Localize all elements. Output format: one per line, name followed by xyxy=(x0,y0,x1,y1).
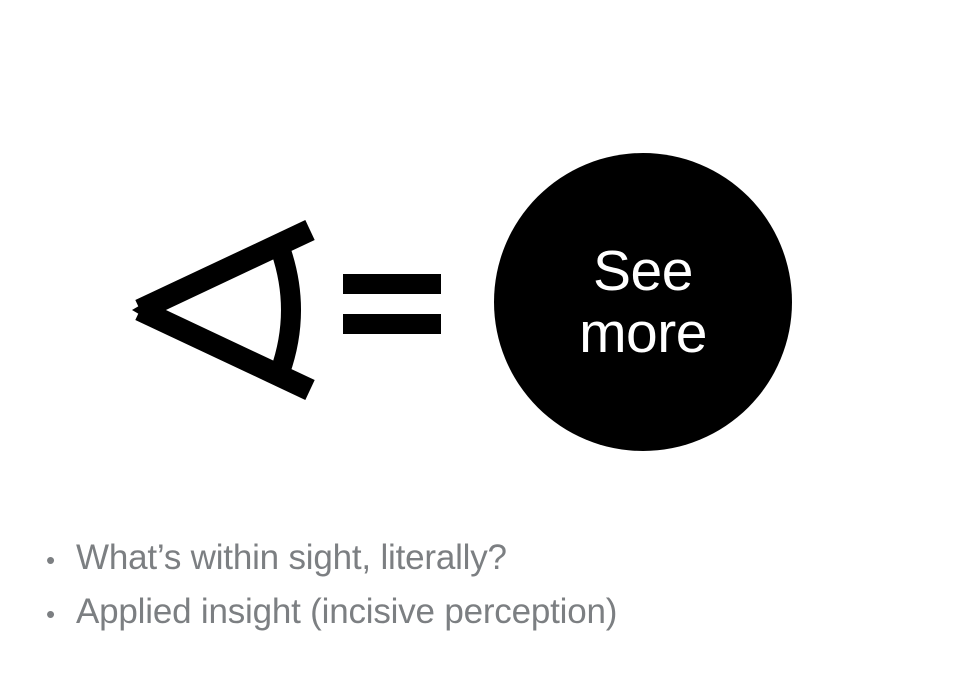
equals-bar-top xyxy=(343,274,441,294)
bullet-text: Applied insight (incisive perception) xyxy=(76,586,906,638)
bullet-list: • What’s within sight, literally? • Appl… xyxy=(46,532,906,640)
equals-icon xyxy=(343,274,441,334)
hero-visual-group: See more xyxy=(0,120,960,490)
badge-line-1: See xyxy=(593,240,693,302)
slide-canvas: See more • What’s within sight, literall… xyxy=(0,0,960,679)
field-of-view-sight-icon xyxy=(130,220,330,400)
list-item: • What’s within sight, literally? xyxy=(46,532,906,586)
badge-line-2: more xyxy=(579,302,707,364)
equals-bar-bottom xyxy=(343,314,441,334)
list-item: • Applied insight (incisive perception) xyxy=(46,586,906,640)
see-more-badge[interactable]: See more xyxy=(494,153,792,451)
bullet-dot-icon: • xyxy=(46,534,76,586)
bullet-dot-icon: • xyxy=(46,588,76,640)
bullet-text: What’s within sight, literally? xyxy=(76,532,906,584)
